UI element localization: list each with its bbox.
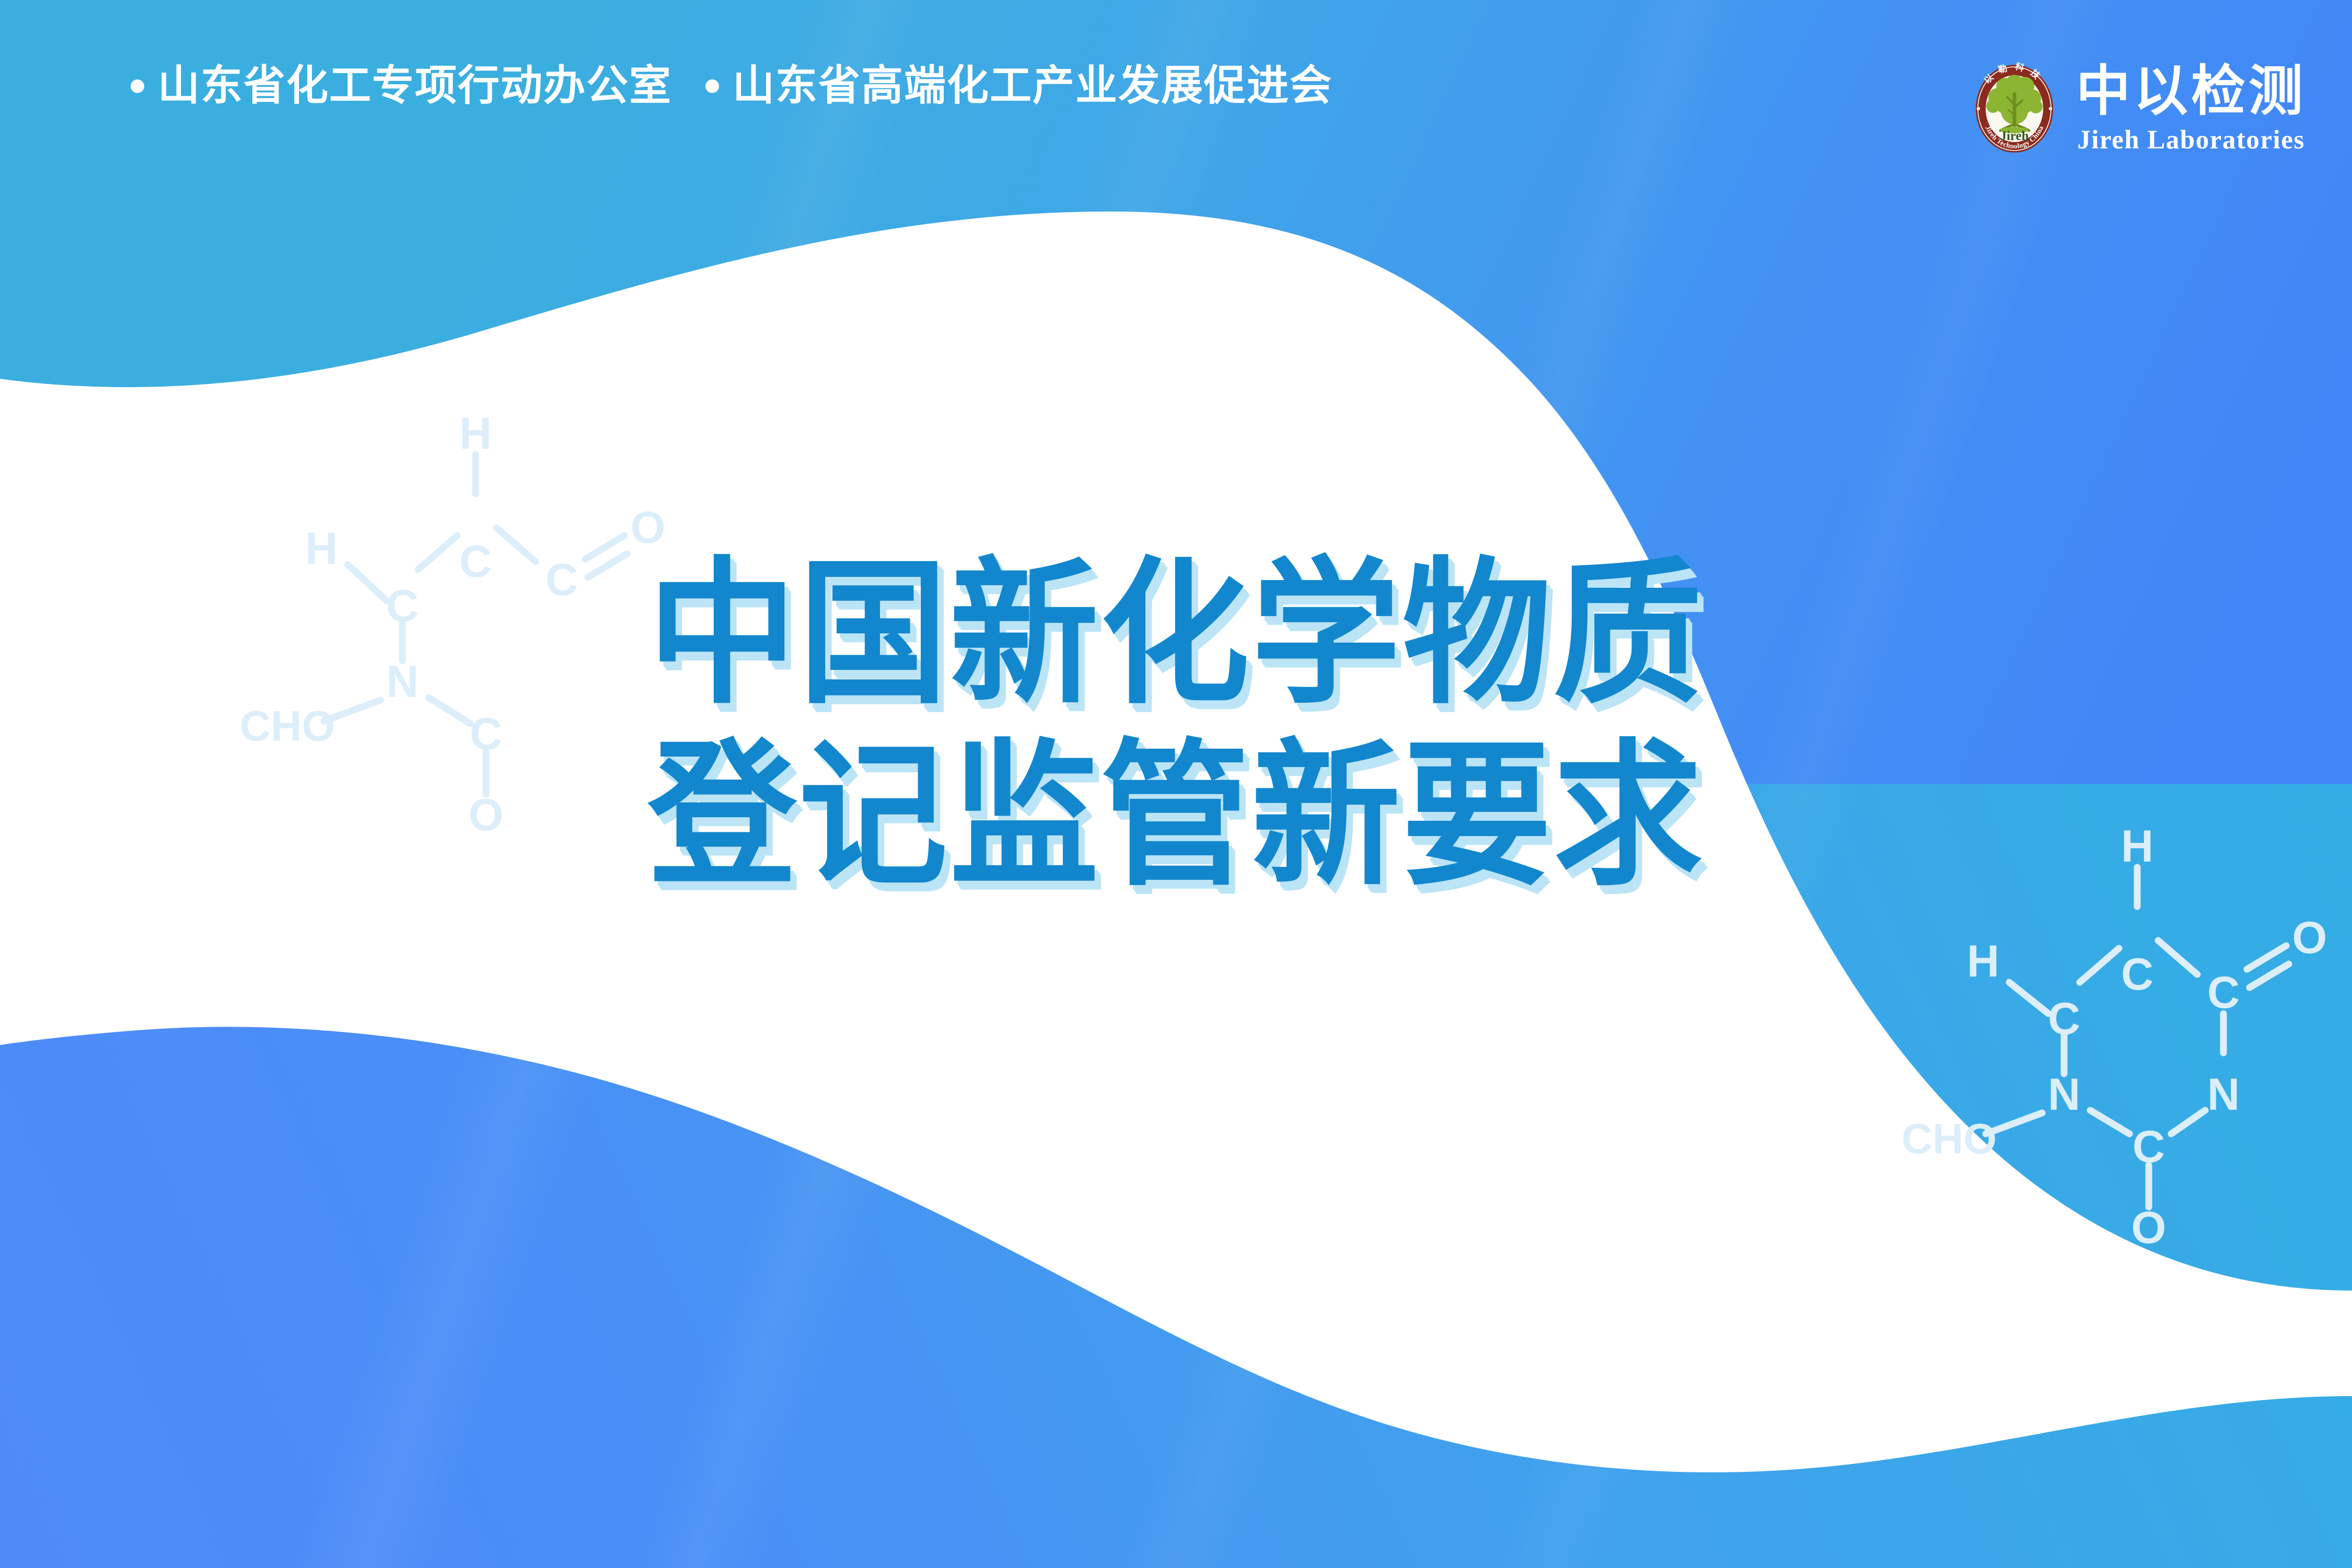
organization-item-1: 山东省化工专项行动办公室 — [131, 65, 672, 107]
header-bar: 山东省化工专项行动办公室 山东省高端化工产业发展促进会 — [0, 0, 2352, 172]
organization-name-1: 山东省化工专项行动办公室 — [158, 65, 672, 107]
brand-name-en: Jireh Laboratories — [2077, 127, 2304, 154]
svg-text:Jireh: Jireh — [2000, 129, 2029, 143]
title-line-1: 中国新化学物质 — [59, 543, 2293, 725]
organization-list: 山东省化工专项行动办公室 山东省高端化工产业发展促进会 — [131, 65, 1333, 107]
organization-name-2: 山东省高端化工产业发展促进会 — [733, 65, 1333, 107]
poster-canvas: 山东省化工专项行动办公室 山东省高端化工产业发展促进会 — [0, 0, 2352, 1568]
title-line-2: 登记监管新要求 — [59, 725, 2293, 907]
organization-item-2: 山东省高端化工产业发展促进会 — [705, 65, 1333, 107]
brand-name-cn: 中以检测 — [2076, 64, 2306, 119]
bullet-dot-icon — [705, 79, 719, 93]
bullet-dot-icon — [131, 79, 144, 93]
poster-title: 中国新化学物质 登记监管新要求 — [0, 543, 2352, 907]
brand-text-block: 中以检测 Jireh Laboratories — [2076, 64, 2306, 154]
jireh-tree-seal-logo-icon: 以勒科技 Jireh Technology China — [1967, 56, 2061, 161]
brand-lockup: 以勒科技 Jireh Technology China — [1967, 56, 2306, 161]
